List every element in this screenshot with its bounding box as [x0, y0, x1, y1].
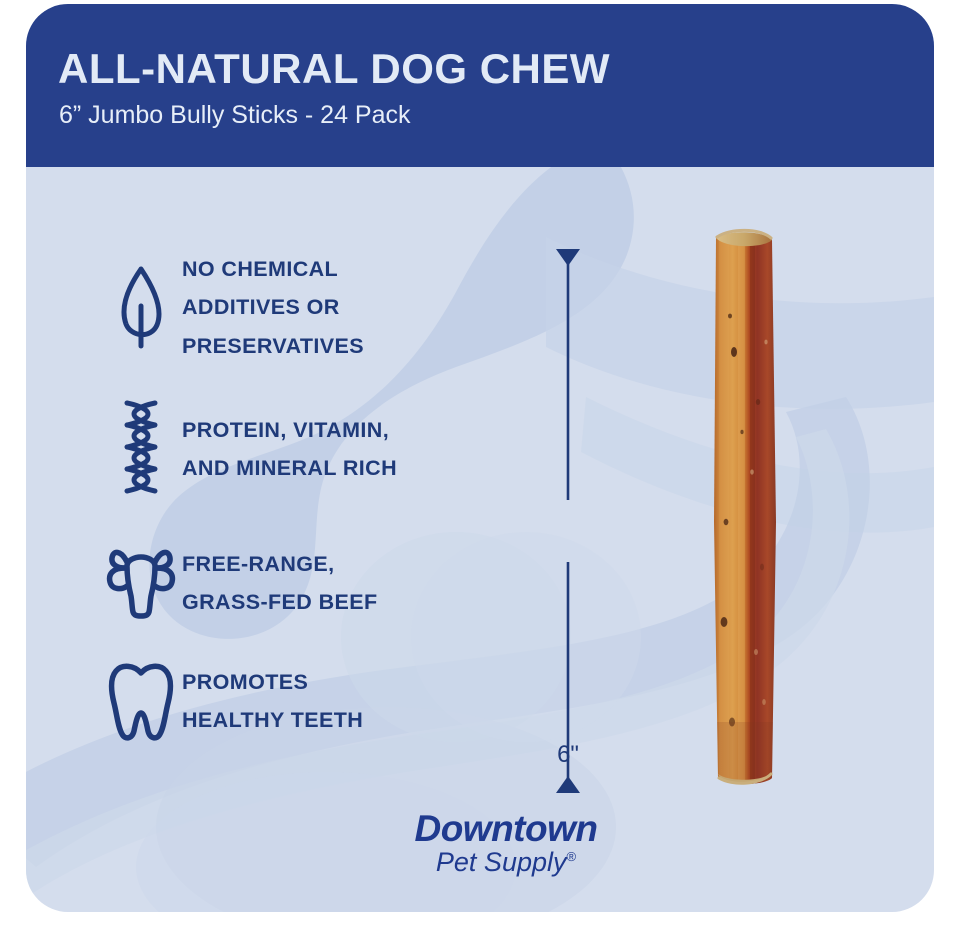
tooth-icon — [100, 661, 182, 741]
feature-label: PROTEIN, VITAMIN, AND MINERAL RICH — [182, 411, 397, 488]
feature-line: PROTEIN, VITAMIN, — [182, 411, 397, 449]
page-title: ALL-NATURAL DOG CHEW — [58, 48, 610, 90]
registered-trademark-icon: ® — [567, 849, 577, 864]
feature-item-promotes-healthy-teeth: PROMOTES HEALTHY TEETH — [100, 661, 500, 741]
feature-line: PRESERVATIVES — [182, 327, 364, 365]
feature-line: FREE-RANGE, — [182, 545, 378, 583]
brand-tagline: Pet Supply — [436, 847, 567, 877]
leaf-icon — [100, 262, 182, 352]
bully-stick-product-image — [686, 222, 806, 794]
feature-item-no-chemical-additives: NO CHEMICAL ADDITIVES OR PRESERVATIVES — [100, 250, 500, 365]
feature-line: NO CHEMICAL — [182, 250, 364, 288]
feature-line: PROMOTES — [182, 663, 363, 701]
double-arrow-vertical-icon — [542, 244, 612, 800]
dimension-indicator: 6" — [542, 244, 612, 800]
brand-name-secondary: Pet Supply® — [366, 849, 646, 876]
infographic-card: ALL-NATURAL DOG CHEW 6” Jumbo Bully Stic… — [26, 4, 934, 912]
feature-label: FREE-RANGE, GRASS-FED BEEF — [182, 545, 378, 622]
feature-label: PROMOTES HEALTHY TEETH — [182, 663, 363, 740]
feature-line: ADDITIVES OR — [182, 288, 364, 326]
feature-line: GRASS-FED BEEF — [182, 583, 378, 621]
cow-head-icon — [100, 546, 182, 620]
feature-label: NO CHEMICAL ADDITIVES OR PRESERVATIVES — [182, 250, 364, 365]
header-banner: ALL-NATURAL DOG CHEW 6” Jumbo Bully Stic… — [26, 4, 934, 167]
feature-line: AND MINERAL RICH — [182, 449, 397, 487]
dimension-label: 6" — [542, 741, 594, 769]
feature-line: HEALTHY TEETH — [182, 701, 363, 739]
product-infographic: ALL-NATURAL DOG CHEW 6” Jumbo Bully Stic… — [0, 0, 960, 936]
page-subtitle: 6” Jumbo Bully Sticks - 24 Pack — [59, 103, 411, 128]
brand-name-primary: Downtown — [366, 810, 646, 847]
feature-item-free-range-grass-fed: FREE-RANGE, GRASS-FED BEEF — [100, 545, 500, 622]
dna-helix-icon — [100, 399, 182, 499]
brand-logo: Downtown Pet Supply® — [366, 810, 646, 890]
feature-item-protein-vitamin-mineral: PROTEIN, VITAMIN, AND MINERAL RICH — [100, 399, 500, 499]
feature-list: NO CHEMICAL ADDITIVES OR PRESERVATIVES — [100, 250, 500, 769]
